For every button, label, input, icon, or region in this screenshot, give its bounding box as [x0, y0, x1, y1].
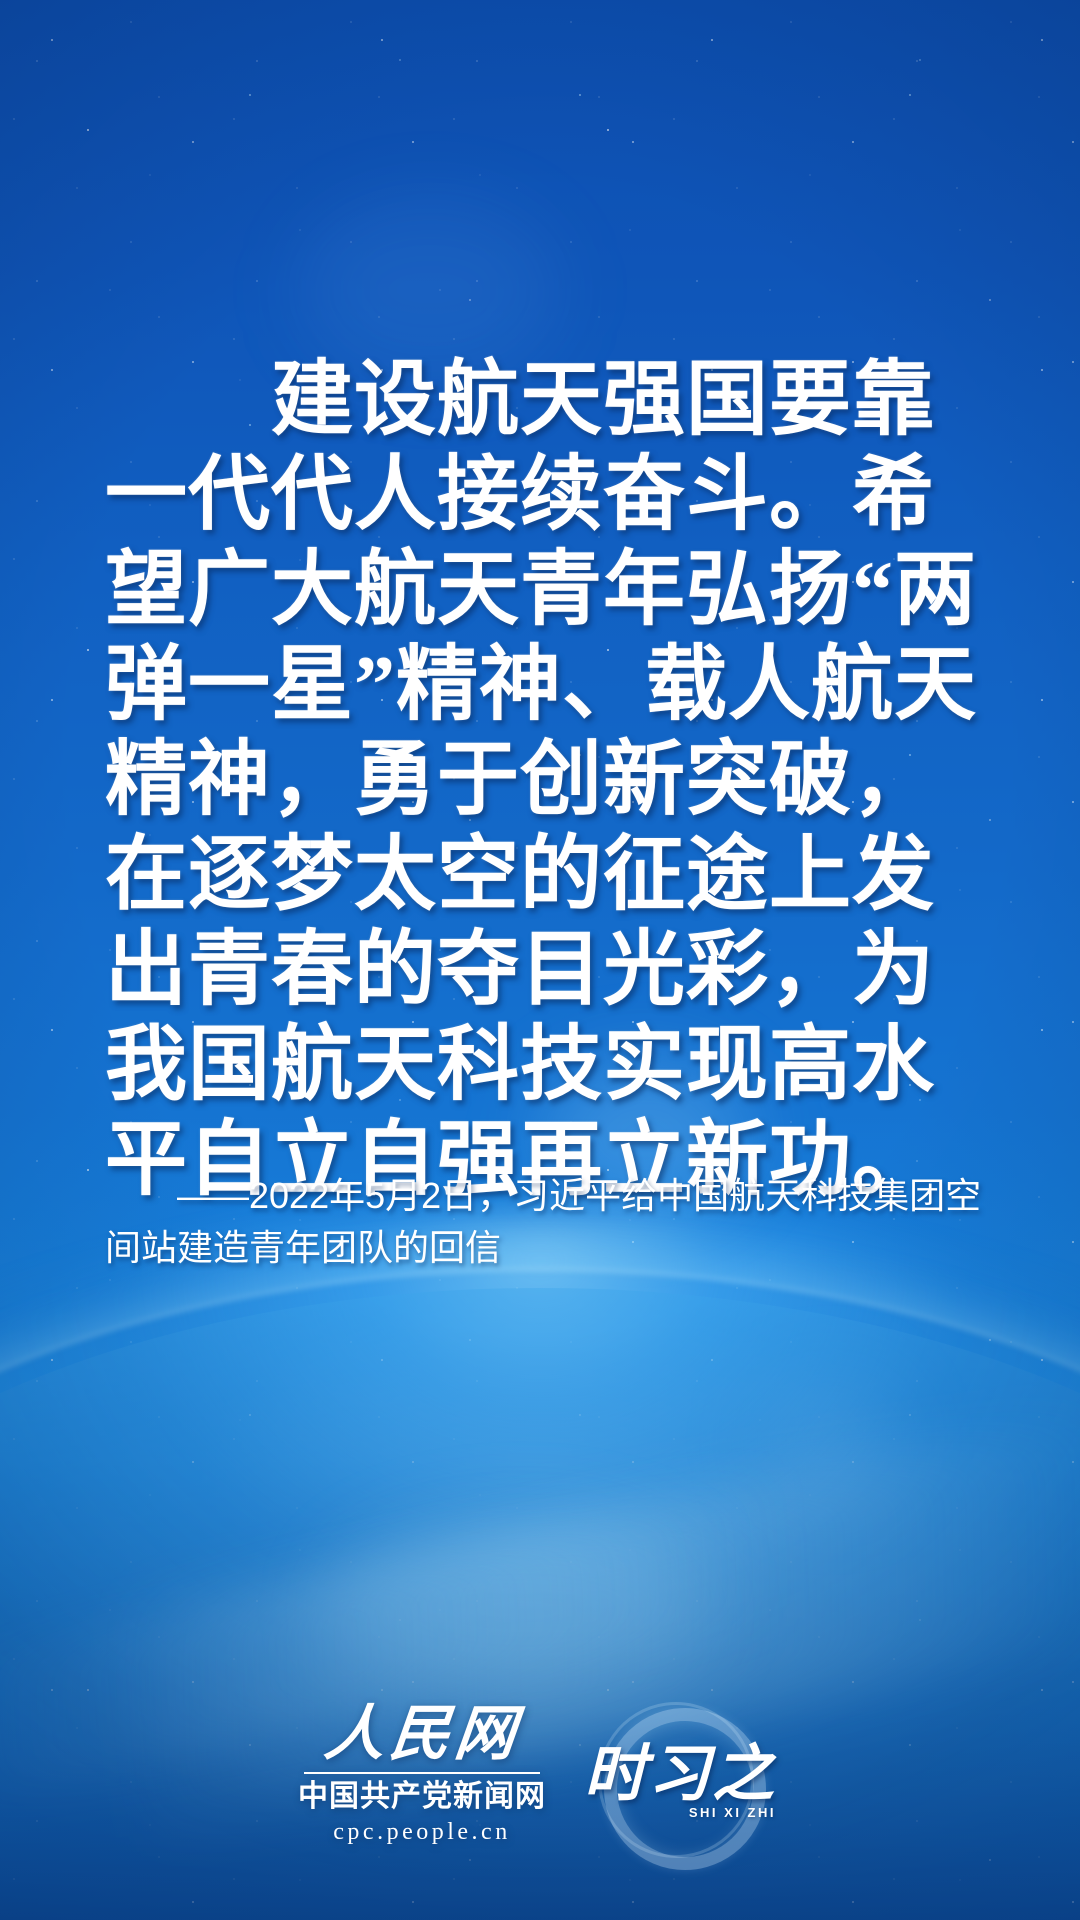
people-daily-brand-label: 人民网: [321, 1703, 523, 1765]
shixizhi-name-label: 时习之: [584, 1743, 776, 1807]
people-daily-online-logo[interactable]: 人民网 中国共产党新闻网 cpc.people.cn: [298, 1703, 546, 1847]
quote-attribution: ——2022年5月2日，习近平给中国航天科技集团空间站建造青年团队的回信: [105, 1170, 995, 1274]
logo-divider-rule: [304, 1772, 540, 1774]
shixizhi-pinyin-label: SHI XI ZHI: [689, 1805, 776, 1820]
cpc-news-sub-brand-label: 中国共产党新闻网: [298, 1780, 546, 1814]
earth-surface-highlight: [330, 1520, 710, 1700]
shixizhi-column-logo[interactable]: 时习之 SHI XI ZHI: [572, 1700, 782, 1850]
cpc-people-url-label: cpc.people.cn: [333, 1817, 510, 1847]
quote-text: 建设航天强国要靠一代代人接续奋斗。希望广大航天青年弘扬“两弹一星”精神、载人航天…: [105, 352, 985, 1207]
poster-canvas: 建设航天强国要靠一代代人接续奋斗。希望广大航天青年弘扬“两弹一星”精神、载人航天…: [0, 0, 1080, 1920]
nebula-glow-right: [760, 1380, 900, 1500]
footer-logo-bar: 人民网 中国共产党新闻网 cpc.people.cn 时习之 SHI XI ZH…: [0, 1690, 1080, 1860]
